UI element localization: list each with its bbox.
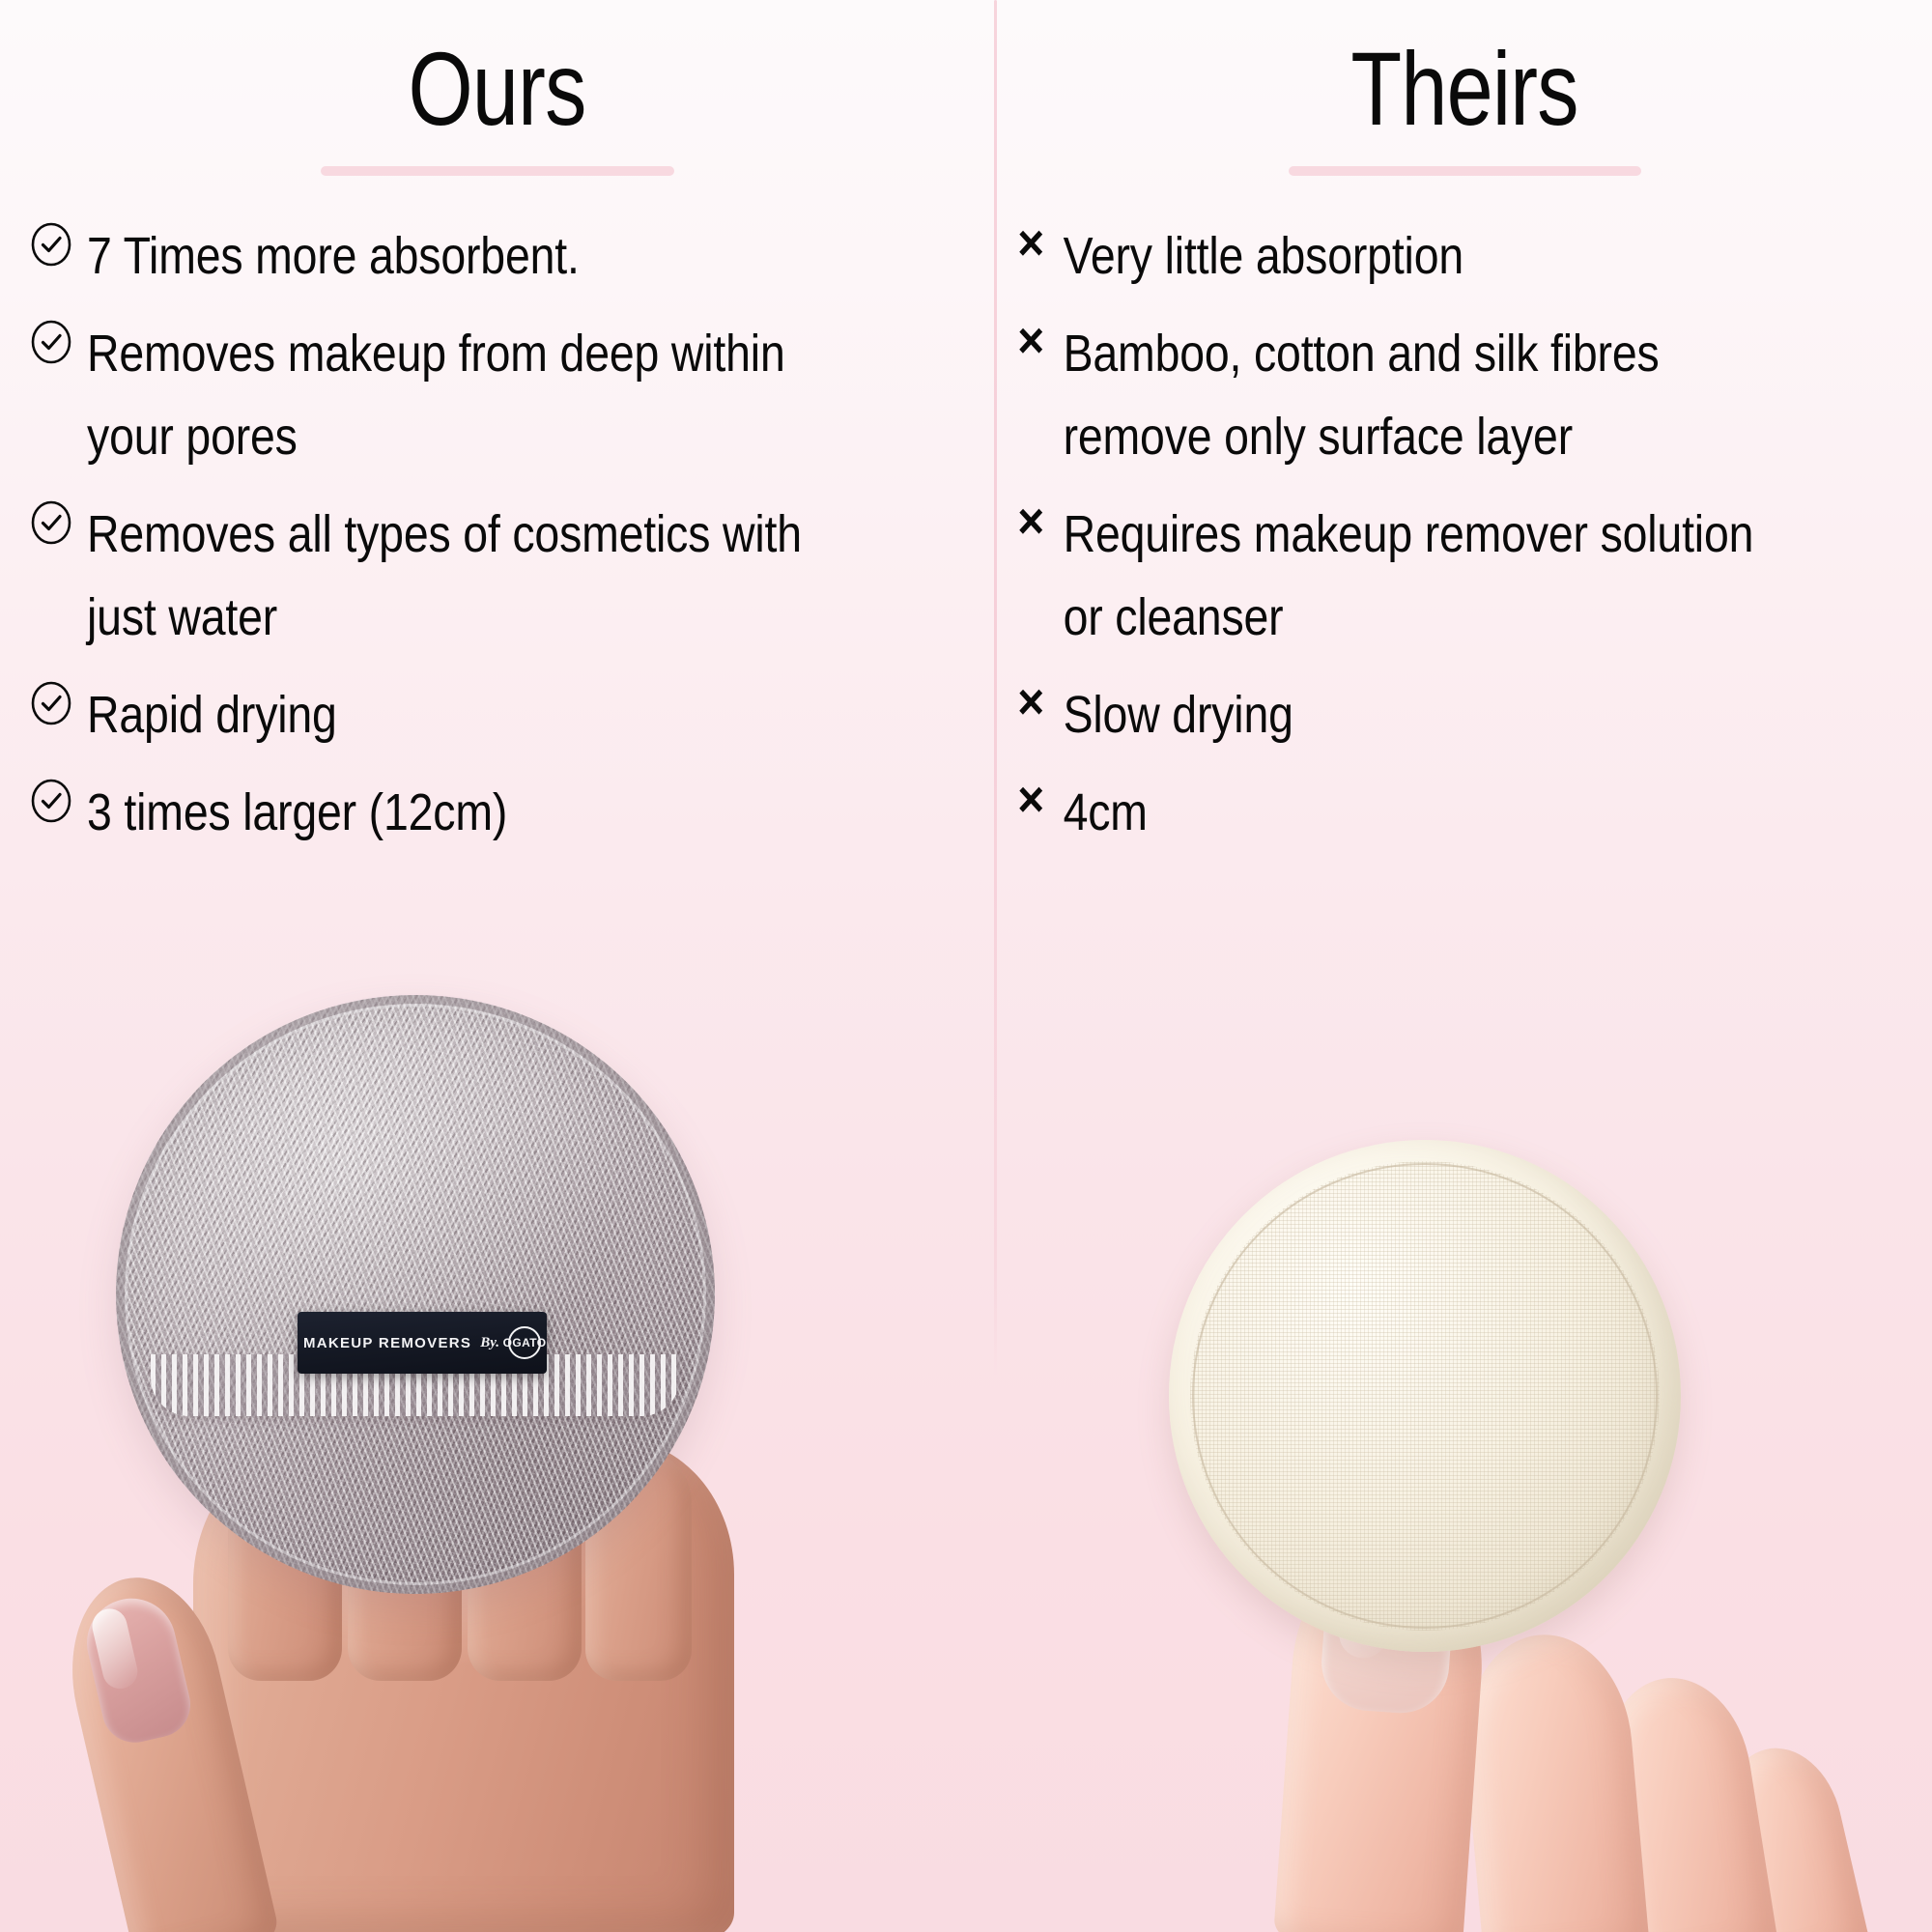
check-circle-icon [27,771,75,823]
theirs-title: Theirs [1091,37,1838,141]
check-circle-icon [27,214,75,267]
cross-icon-glyph: × [1017,681,1044,724]
brand-label-by: By. [480,1335,499,1351]
thumb-nail [78,1590,197,1749]
list-item-label: Bamboo, cotton and silk fibres remove on… [1055,312,1801,478]
cross-icon: × [1007,214,1055,265]
list-item-label: Requires makeup remover solution or clea… [1055,493,1801,659]
cross-icon: × [1007,771,1055,821]
product-image-theirs [1111,1140,1787,1932]
ours-title-underline [321,166,674,176]
check-circle-icon [27,673,75,725]
list-item: 3 times larger (12cm) [27,771,965,854]
cotton-pad [1169,1140,1681,1652]
list-item: 7 Times more absorbent. [27,214,965,298]
cross-icon: × [1007,312,1055,362]
cross-icon-glyph: × [1017,500,1044,543]
list-item: × Bamboo, cotton and silk fibres remove … [1007,312,1922,478]
list-item-label: Removes all types of cosmetics with just… [75,493,840,659]
pad-inner-ring [1192,1163,1658,1629]
theirs-title-underline [1289,166,1641,176]
comparison-infographic: Ours 7 Times more absorbent. [0,0,1932,1932]
ours-header: Ours [0,0,994,176]
microfiber-pad [116,995,715,1594]
list-item: × 4cm [1007,771,1922,854]
column-theirs: Theirs × Very little absorption × Bamboo… [997,0,1932,868]
pad-rim [116,995,715,1594]
list-item-label: 7 Times more absorbent. [75,214,840,298]
finger [1457,1628,1651,1932]
cross-icon-glyph: × [1017,222,1044,265]
list-item: × Slow drying [1007,673,1922,756]
check-circle-icon [27,493,75,545]
list-item-label: 3 times larger (12cm) [75,771,840,854]
cross-icon: × [1007,673,1055,724]
theirs-feature-list: × Very little absorption × Bamboo, cotto… [997,214,1932,854]
cross-icon-glyph: × [1017,320,1044,362]
brand-label: MAKEUP REMOVERS By. OGATO [298,1312,547,1374]
product-image-ours: MAKEUP REMOVERS By. OGATO [58,995,792,1932]
cross-icon: × [1007,493,1055,543]
list-item-label: Very little absorption [1055,214,1801,298]
list-item: × Very little absorption [1007,214,1922,298]
ours-title: Ours [99,37,895,141]
column-ours: Ours 7 Times more absorbent. [0,0,994,868]
list-item: Removes makeup from deep within your por… [27,312,965,478]
list-item-label: 4cm [1055,771,1801,854]
product-photo-zone: MAKEUP REMOVERS By. OGATO [0,995,1932,1932]
theirs-header: Theirs [997,0,1932,176]
check-circle-icon [27,312,75,364]
ogato-logo-icon: OGATO [508,1326,541,1359]
list-item-label: Rapid drying [75,673,840,756]
list-item: × Requires makeup remover solution or cl… [1007,493,1922,659]
brand-label-text: MAKEUP REMOVERS [303,1335,471,1351]
list-item: Removes all types of cosmetics with just… [27,493,965,659]
ours-feature-list: 7 Times more absorbent. Removes makeup f… [0,214,994,854]
list-item: Rapid drying [27,673,965,756]
cross-icon-glyph: × [1017,779,1044,821]
list-item-label: Slow drying [1055,673,1801,756]
list-item-label: Removes makeup from deep within your por… [75,312,840,478]
